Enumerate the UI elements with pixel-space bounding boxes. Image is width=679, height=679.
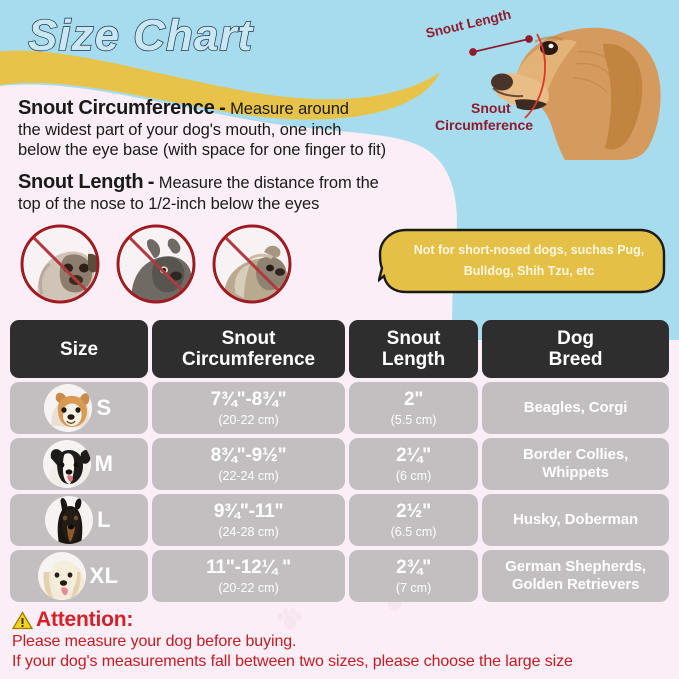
size-table-body: S7¾"-8¾"(20-22 cm)2"(5.5 cm)Beagles, Cor… xyxy=(10,382,669,602)
column-header-snout-circumference: Snout Circumference xyxy=(152,320,345,378)
column-header-text: Length xyxy=(382,349,445,370)
cell-snout-length: 2¼"(6 cm) xyxy=(349,438,478,490)
breed-text: Beagles, Corgi xyxy=(518,399,634,417)
size-chart-title-art: Size Chart xyxy=(24,8,344,64)
instruction-dash: - xyxy=(219,97,226,119)
breed-text: German Shepherds, Golden Retrievers xyxy=(482,558,669,594)
cell-snout-length: 2½"(6.5 cm) xyxy=(349,494,478,546)
cell-size-s: S xyxy=(10,382,148,434)
excluded-breed-pug xyxy=(18,222,102,306)
excluded-breed-shih-tzu xyxy=(210,222,294,306)
measure-cm: (6 cm) xyxy=(396,470,431,483)
cell-size-l: L xyxy=(10,494,148,546)
size-letter: XL xyxy=(90,563,119,589)
column-header-text: Dog xyxy=(549,328,603,349)
measure-cm: (20-22 cm) xyxy=(218,414,278,427)
instruction-lead: Snout Length xyxy=(18,171,143,193)
svg-text:Size Chart: Size Chart xyxy=(28,11,255,60)
table-row: L9¾"-11"(24-28 cm)2½"(6.5 cm)Husky, Dobe… xyxy=(10,494,669,546)
instruction-rest: Measure around xyxy=(230,100,349,118)
cell-snout-circumference: 11"-12¼ "(20-22 cm) xyxy=(152,550,345,602)
callout-line-1: Not for short-nosed dogs, suchas Pug, xyxy=(406,240,652,261)
measure-inches: 9¾"-11" xyxy=(214,502,283,521)
golden-retriever-photo xyxy=(491,28,661,160)
attention-line-2: If your dog's measurements fall between … xyxy=(12,652,672,672)
instruction-dash: - xyxy=(148,171,155,193)
page-title: Size Chart xyxy=(24,8,344,64)
instruction-line: top of the nose to 1/2-inch below the ey… xyxy=(18,194,458,214)
measure-cm: (7 cm) xyxy=(396,582,431,595)
measure-inches: 7¾"-8¾" xyxy=(211,390,287,409)
cell-dog-breed: Border Collies, Whippets xyxy=(482,438,669,490)
measure-inches: 8¾"-9½" xyxy=(211,446,287,465)
column-header-text: Size xyxy=(60,339,98,360)
instruction-line: below the eye base (with space for one f… xyxy=(18,140,458,160)
column-header-text: Breed xyxy=(549,349,603,370)
measure-cm: (5.5 cm) xyxy=(391,414,437,427)
excluded-breeds-row xyxy=(18,222,294,306)
breed-text: Border Collies, Whippets xyxy=(482,446,669,482)
warning-triangle-icon xyxy=(12,611,33,630)
snout-length-label: Snout Length xyxy=(424,7,512,41)
cell-size-xl: XL xyxy=(10,550,148,602)
cell-dog-breed: Beagles, Corgi xyxy=(482,382,669,434)
short-nosed-warning-callout: Not for short-nosed dogs, suchas Pug, Bu… xyxy=(378,228,666,294)
instruction-line: the widest part of your dog's mouth, one… xyxy=(18,120,458,140)
measure-inches: 2¾" xyxy=(396,558,431,577)
size-table: Size Snout Circumference Snout Length xyxy=(10,320,669,606)
snout-length-measure-line xyxy=(470,36,532,55)
attention-title: Attention: xyxy=(36,608,133,632)
cell-snout-circumference: 9¾"-11"(24-28 cm) xyxy=(152,494,345,546)
measure-inches: 2" xyxy=(404,390,423,409)
size-letter: M xyxy=(95,451,114,477)
excluded-breed-french-bulldog xyxy=(114,222,198,306)
measure-cm: (24-28 cm) xyxy=(218,526,278,539)
column-header-dog-breed: Dog Breed xyxy=(482,320,669,378)
size-letter: S xyxy=(96,395,111,421)
doberman-photo xyxy=(43,494,95,546)
cell-dog-breed: German Shepherds, Golden Retrievers xyxy=(482,550,669,602)
column-header-text: Circumference xyxy=(182,349,315,370)
instruction-snout-length: Snout Length - Measure the distance from… xyxy=(18,170,458,214)
measurement-instructions: Snout Circumference - Measure around the… xyxy=(18,96,458,224)
cell-snout-circumference: 8¾"-9½"(22-24 cm) xyxy=(152,438,345,490)
table-row: S7¾"-8¾"(20-22 cm)2"(5.5 cm)Beagles, Cor… xyxy=(10,382,669,434)
measure-cm: (22-24 cm) xyxy=(218,470,278,483)
measure-cm: (6.5 cm) xyxy=(391,526,437,539)
attention-line-1: Please measure your dog before buying. xyxy=(12,632,672,652)
measure-cm: (20-22 cm) xyxy=(218,582,278,595)
attention-footer: Attention: Please measure your dog befor… xyxy=(12,608,672,672)
border-collie-photo xyxy=(41,438,93,490)
breed-text: Husky, Doberman xyxy=(507,511,644,529)
size-letter: L xyxy=(97,507,111,533)
measure-inches: 2½" xyxy=(396,502,431,521)
cell-snout-length: 2¾"(7 cm) xyxy=(349,550,478,602)
cell-snout-circumference: 7¾"-8¾"(20-22 cm) xyxy=(152,382,345,434)
table-row: M8¾"-9½"(22-24 cm)2¼"(6 cm)Border Collie… xyxy=(10,438,669,490)
corgi-photo xyxy=(42,382,94,434)
column-header-size: Size xyxy=(10,320,148,378)
table-row: XL11"-12¼ "(20-22 cm)2¾"(7 cm)German She… xyxy=(10,550,669,602)
cell-size-m: M xyxy=(10,438,148,490)
size-chart-page: Size Chart xyxy=(0,0,679,679)
instruction-snout-circumference: Snout Circumference - Measure around the… xyxy=(18,96,458,160)
instruction-lead: Snout Circumference xyxy=(18,97,215,119)
instruction-rest: Measure the distance from the xyxy=(159,174,379,192)
cell-dog-breed: Husky, Doberman xyxy=(482,494,669,546)
snout-circumference-label-line1: Snout xyxy=(471,100,511,116)
callout-line-2: Bulldog, Shih Tzu, etc xyxy=(406,261,652,282)
cell-snout-length: 2"(5.5 cm) xyxy=(349,382,478,434)
golden-retriever-photo xyxy=(36,550,88,602)
column-header-snout-length: Snout Length xyxy=(349,320,478,378)
column-header-text: Snout xyxy=(382,328,445,349)
measure-inches: 2¼" xyxy=(396,446,431,465)
column-header-text: Snout xyxy=(182,328,315,349)
size-table-header: Size Snout Circumference Snout Length xyxy=(10,320,669,378)
measure-inches: 11"-12¼ " xyxy=(206,558,291,577)
